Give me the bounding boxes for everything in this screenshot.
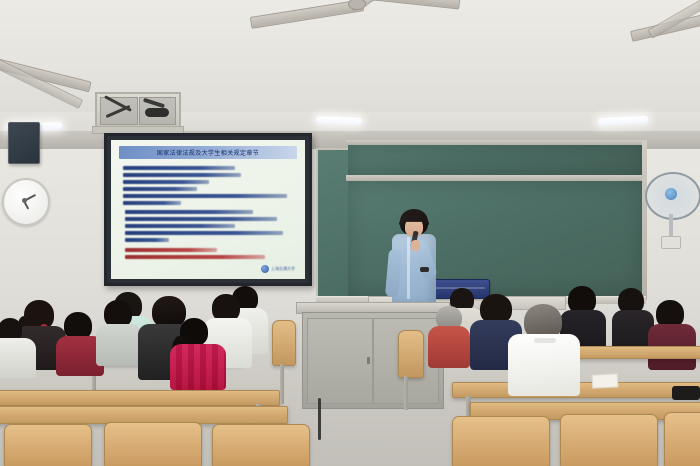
- chair-back: [664, 412, 700, 466]
- slide-title-text: 国家法律法规及大学生相关规定章节: [157, 148, 259, 157]
- chair-back: [398, 330, 424, 378]
- torso: [0, 338, 36, 378]
- slide-logo-text: 上海交通大学: [271, 266, 295, 272]
- presenter-wristwatch: [420, 267, 429, 272]
- chair-back: [272, 320, 296, 366]
- ceiling-speaker-box: [8, 122, 40, 164]
- slide-body-line: [123, 201, 181, 205]
- torso: [170, 344, 226, 390]
- presenter-hand: [411, 240, 420, 251]
- blackboard-panel-upper: [348, 145, 644, 175]
- slide-body-line: [125, 217, 277, 221]
- paper-on-desk: [592, 373, 619, 388]
- chair-back: [104, 422, 202, 466]
- torso: [428, 326, 470, 368]
- slide-body-line: [123, 173, 241, 177]
- classroom-photo: 国家法律法规及大学生相关规定章节 上海交通大学: [0, 0, 700, 466]
- slide-content: 国家法律法规及大学生相关规定章节 上海交通大学: [111, 140, 305, 279]
- slide-body-line: [123, 187, 197, 191]
- slide-body-line: [123, 194, 287, 198]
- slide-body-line: [125, 231, 283, 235]
- slide-body-line: [125, 238, 169, 242]
- blackboard-side-panel: [316, 148, 350, 304]
- lectern-door-left[interactable]: [307, 318, 373, 404]
- chair-back: [212, 424, 310, 466]
- torso: [96, 324, 142, 366]
- chair-leg: [404, 376, 408, 410]
- presenter-shirt-placket: [407, 237, 410, 299]
- lectern-cable: [318, 398, 321, 440]
- chair-back: [452, 416, 550, 466]
- slide-logo-mark: [261, 265, 269, 273]
- slide-body-line: [123, 180, 209, 184]
- slide-body-line-emphasis: [125, 255, 265, 259]
- chair-back: [560, 414, 658, 466]
- lectern-handle[interactable]: [367, 357, 370, 364]
- projection-screen: 国家法律法规及大学生相关规定章节 上海交通大学: [104, 133, 312, 286]
- wall-mounted-fan: [645, 172, 697, 222]
- fan-hub: [665, 188, 677, 200]
- slide-logo: 上海交通大学: [261, 265, 295, 273]
- presenter: [386, 209, 442, 304]
- slide-title-bar: 国家法律法规及大学生相关规定章节: [119, 146, 297, 159]
- torso: [508, 334, 580, 396]
- chair-leg: [280, 364, 284, 404]
- shirt-collar: [534, 338, 556, 343]
- blackboard: [316, 140, 646, 300]
- bag-on-desk: [672, 386, 700, 400]
- slide-body-line: [123, 166, 235, 170]
- wall-clock: [2, 178, 50, 226]
- slide-body-line-emphasis: [125, 248, 217, 252]
- slide-body-line: [125, 210, 253, 214]
- slide-body-line: [125, 224, 235, 228]
- chair-back: [4, 424, 92, 466]
- desk-row-middle-left: [0, 390, 280, 406]
- fan-wall-switch[interactable]: [661, 236, 681, 249]
